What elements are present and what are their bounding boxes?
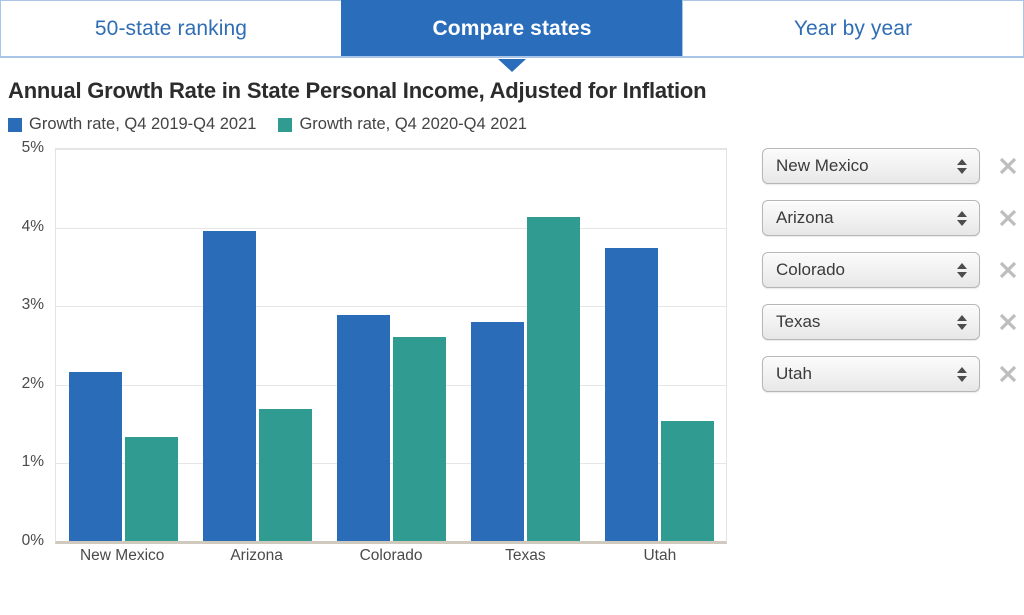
bar[interactable] [605, 248, 658, 541]
legend-item-series-1[interactable]: Growth rate, Q4 2019-Q4 2021 [8, 115, 256, 134]
x-axis-label: New Mexico [55, 547, 189, 565]
bar-group [190, 149, 324, 541]
tab-label: Compare states [433, 17, 592, 41]
state-select-value: Colorado [776, 260, 955, 280]
close-icon [997, 155, 1019, 177]
stepper-arrows-icon[interactable] [955, 367, 968, 382]
state-select-value: Texas [776, 312, 955, 332]
legend-label-series-2: Growth rate, Q4 2020-Q4 2021 [299, 115, 526, 134]
state-selector-row: Colorado [762, 252, 1024, 288]
stepper-arrows-icon[interactable] [955, 263, 968, 278]
state-select-texas[interactable]: Texas [762, 304, 980, 340]
remove-state-button-new-mexico[interactable] [993, 151, 1023, 181]
x-axis-label: Texas [458, 547, 592, 565]
tab-compare-states[interactable]: Compare states [341, 0, 683, 56]
bar[interactable] [527, 217, 580, 541]
y-axis-tick: 1% [22, 453, 44, 471]
bar[interactable] [203, 231, 256, 541]
remove-state-button-arizona[interactable] [993, 203, 1023, 233]
stepper-arrows-icon[interactable] [955, 211, 968, 226]
chart-container: 0%1%2%3%4%5% New MexicoArizonaColoradoTe… [0, 148, 1024, 578]
stepper-arrows-icon[interactable] [955, 159, 968, 174]
state-selector-row: Arizona [762, 200, 1024, 236]
x-axis-label: Arizona [189, 547, 323, 565]
state-selector-row: Utah [762, 356, 1024, 392]
legend-item-series-2[interactable]: Growth rate, Q4 2020-Q4 2021 [278, 115, 526, 134]
remove-state-button-texas[interactable] [993, 307, 1023, 337]
chart-legend: Growth rate, Q4 2019-Q4 2021 Growth rate… [8, 115, 1024, 134]
bar[interactable] [393, 337, 446, 541]
state-select-value: Utah [776, 364, 955, 384]
y-axis-tick: 3% [22, 296, 44, 314]
state-select-new-mexico[interactable]: New Mexico [762, 148, 980, 184]
stepper-arrows-icon[interactable] [955, 315, 968, 330]
tab-bar: 50-state ranking Compare states Year by … [0, 0, 1024, 58]
plot-area [55, 148, 727, 544]
bar[interactable] [259, 409, 312, 541]
tab-label: Year by year [794, 17, 912, 41]
bar-group [324, 149, 458, 541]
bar[interactable] [125, 437, 178, 541]
bar[interactable] [471, 322, 524, 541]
y-axis: 0%1%2%3%4%5% [0, 148, 54, 544]
chart-title: Annual Growth Rate in State Personal Inc… [8, 78, 1024, 104]
state-select-value: Arizona [776, 208, 955, 228]
bar[interactable] [69, 372, 122, 541]
close-icon [997, 311, 1019, 333]
state-select-colorado[interactable]: Colorado [762, 252, 980, 288]
bar[interactable] [337, 315, 390, 541]
x-axis-label: Utah [593, 547, 727, 565]
x-axis-labels: New MexicoArizonaColoradoTexasUtah [55, 547, 727, 565]
x-axis-label: Colorado [324, 547, 458, 565]
remove-state-button-utah[interactable] [993, 359, 1023, 389]
y-axis-tick: 4% [22, 218, 44, 236]
tab-50-state-ranking[interactable]: 50-state ranking [0, 0, 342, 56]
close-icon [997, 259, 1019, 281]
state-selector-row: Texas [762, 304, 1024, 340]
bar[interactable] [661, 421, 714, 541]
bar-group [56, 149, 190, 541]
tab-year-by-year[interactable]: Year by year [682, 0, 1024, 56]
tab-label: 50-state ranking [95, 17, 247, 41]
close-icon [997, 363, 1019, 385]
bar-group [458, 149, 592, 541]
state-selector-panel: New MexicoArizonaColoradoTexasUtah [762, 148, 1024, 408]
y-axis-tick: 2% [22, 375, 44, 393]
remove-state-button-colorado[interactable] [993, 255, 1023, 285]
bar-chart: 0%1%2%3%4%5% New MexicoArizonaColoradoTe… [0, 148, 740, 578]
legend-swatch-series-1 [8, 118, 22, 132]
y-axis-tick: 5% [22, 139, 44, 157]
state-select-utah[interactable]: Utah [762, 356, 980, 392]
bar-groups [56, 149, 726, 541]
close-icon [997, 207, 1019, 229]
bar-group [592, 149, 726, 541]
legend-swatch-series-2 [278, 118, 292, 132]
y-axis-tick: 0% [22, 532, 44, 550]
legend-label-series-1: Growth rate, Q4 2019-Q4 2021 [29, 115, 256, 134]
state-selector-row: New Mexico [762, 148, 1024, 184]
active-tab-pointer-icon [498, 59, 526, 72]
state-select-arizona[interactable]: Arizona [762, 200, 980, 236]
state-select-value: New Mexico [776, 156, 955, 176]
